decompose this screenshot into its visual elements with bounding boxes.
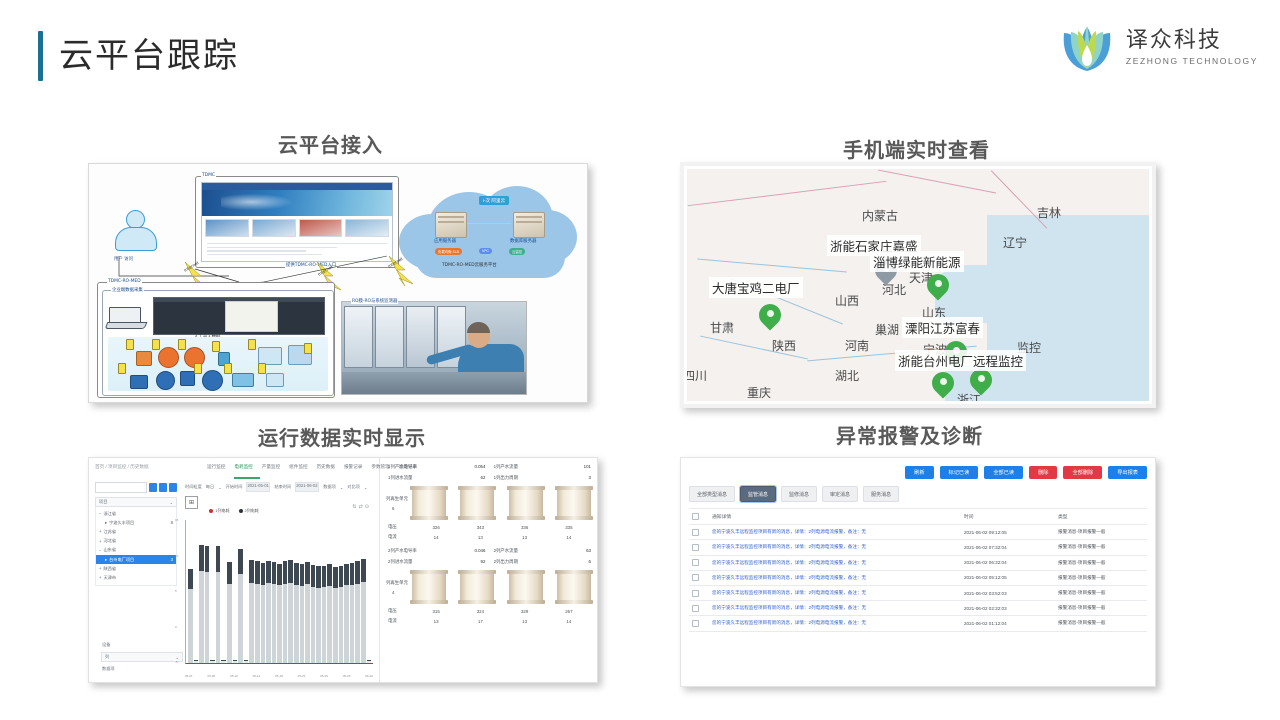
- regeneration-unit-value: 4: [392, 590, 394, 595]
- province-label: 河南: [845, 337, 869, 354]
- column-select[interactable]: 列 ⌄: [101, 652, 183, 662]
- chart-bar: [249, 560, 254, 663]
- regeneration-unit-label: 列再生单元: [386, 580, 408, 586]
- alarm-type: 报警消息-项目报警—般: [1055, 601, 1147, 616]
- search-icon[interactable]: [149, 483, 157, 492]
- row-select-cell[interactable]: [689, 555, 709, 570]
- row-select-cell[interactable]: [689, 616, 709, 631]
- alarm-table[interactable]: 通知详情 时间 类型 您的宁波久丰远程监控项目有新的消息，详情：2列电源电流报警…: [689, 508, 1147, 632]
- tab-item-active[interactable]: 电耗监控: [234, 464, 252, 470]
- project-select[interactable]: 项目 ⌄: [95, 497, 177, 507]
- map-site-label: 浙能台州电厂远程监控: [895, 350, 1026, 371]
- tree-node[interactable]: +河北省: [96, 537, 176, 546]
- province-label: 内蒙古: [862, 207, 898, 224]
- x-tick: 05-01: [185, 674, 193, 678]
- current-label: 电流: [388, 618, 414, 624]
- tree-node-label: 陕西省: [103, 566, 116, 572]
- metrics-grid: 1列产水电导率0.054 1列产水流量101 1列进水流量62 1列出力周期3 …: [388, 464, 591, 628]
- chart-bar: [316, 566, 321, 663]
- alarm-message[interactable]: 您的宁波久丰远程监控项目有新的消息，详情：2列电源电流报警，备注：无: [709, 616, 961, 631]
- row-checkbox[interactable]: [692, 620, 699, 627]
- row-select-cell[interactable]: [689, 601, 709, 616]
- row-checkbox[interactable]: [692, 590, 699, 597]
- spool-icon: [557, 570, 591, 604]
- chart-bars: [186, 520, 373, 663]
- chevron-down-icon: ⌄: [218, 485, 222, 490]
- alarm-table-image: 刷新标记已读全部已读删除全部删除导出报表 全部类型消息监管消息监修消息审定消息服…: [680, 457, 1156, 687]
- col-detail: 通知详情: [709, 509, 961, 525]
- alarm-tab[interactable]: 服务消息: [863, 486, 899, 502]
- tab-item[interactable]: 组件监控: [289, 464, 307, 470]
- x-tick: 05-14: [253, 674, 261, 678]
- alarm-type: 报警消息-项目报警—般: [1055, 585, 1147, 600]
- page-title-text: 云平台跟踪: [59, 39, 239, 73]
- alarm-action-button[interactable]: 导出报表: [1108, 466, 1147, 479]
- metric-row: 1列进水流量62 1列出力周期3: [388, 475, 591, 481]
- tree-node-label: 台州电厂项目: [109, 557, 134, 563]
- metric-row: 1列产水电导率0.054 1列产水流量101: [388, 464, 591, 470]
- spool-icon: [557, 486, 591, 520]
- metric-row: 2列产水电导率0.046 2列产水流量63: [388, 548, 591, 554]
- province-label: 吉林: [1037, 204, 1061, 221]
- row-select-cell[interactable]: [689, 540, 709, 555]
- y-tick: -5: [175, 660, 178, 664]
- alarm-action-button[interactable]: 标记已读: [940, 466, 979, 479]
- logo-name-cn: 译众科技: [1126, 28, 1258, 53]
- current-value: 13: [458, 535, 502, 540]
- membrane-spools-row-2: [388, 570, 591, 604]
- metric-value: 3: [589, 475, 591, 481]
- tree-node-label: 河北省: [103, 538, 116, 544]
- row-checkbox[interactable]: [692, 574, 699, 581]
- voltage-row: 电压 315 324 329 267: [388, 608, 591, 614]
- operating-data-dashboard-image: 首页 / 项目监控 / 历史数据 运行监控 电耗监控 产量监控 组件监控 历史数…: [88, 457, 598, 683]
- alarm-message[interactable]: 您的宁波久丰远程监控项目有新的消息，详情：2列电源电流报警，备注：无: [709, 525, 961, 540]
- voltage-value: 315: [414, 609, 458, 614]
- chart-bar: [283, 561, 288, 663]
- province-label: 陕西: [772, 337, 796, 354]
- voltage-row: 电压 326 343 336 335: [388, 524, 591, 530]
- map-pin[interactable]: [927, 274, 949, 296]
- y-tick: 10: [175, 554, 178, 558]
- tree-node[interactable]: +陕西省: [96, 564, 176, 573]
- table-row[interactable]: 您的宁波久丰远程监控项目有新的消息，详情：2列电源电流报警，备注：无2021-0…: [689, 616, 1147, 631]
- filter-icon[interactable]: [159, 483, 167, 492]
- alarm-type: 报警消息-项目报警—般: [1055, 540, 1147, 555]
- laptop-icon: [109, 307, 145, 329]
- current-value: 14: [414, 535, 458, 540]
- province-label: 湖北: [835, 367, 859, 384]
- legend-item: 2列电耗: [239, 508, 259, 514]
- alarm-type: 报警消息-项目报警—般: [1055, 616, 1147, 631]
- x-tick: 06-02: [365, 674, 373, 678]
- alarm-message[interactable]: 您的宁波久丰远程监控项目有新的消息，详情：2列电源电流报警，备注：无: [709, 601, 961, 616]
- dashboard-layout: 首页 / 项目监控 / 历史数据 运行监控 电耗监控 产量监控 组件监控 历史数…: [89, 458, 597, 682]
- current-value: 13: [503, 619, 547, 624]
- alarm-tab[interactable]: 全部类型消息: [689, 486, 735, 502]
- province-label: 四川: [687, 367, 707, 384]
- column-select-label: 列: [105, 654, 109, 660]
- metric-label: 2列产水流量: [494, 548, 518, 554]
- row-select-cell[interactable]: [689, 570, 709, 585]
- chart-bar: [233, 660, 238, 663]
- row-checkbox[interactable]: [692, 605, 699, 612]
- device-label: 设备: [101, 640, 183, 650]
- tree-node[interactable]: −山东省: [96, 546, 176, 555]
- metric-label: 2列产水电导率: [388, 548, 417, 554]
- alarm-message[interactable]: 您的宁波久丰远程监控项目有新的消息，详情：2列电源电流报警，备注：无: [709, 555, 961, 570]
- metric-label: 2列出力周期: [494, 559, 518, 565]
- chart-bar: [194, 660, 199, 663]
- alarm-time: 2021-06-02 01:12:04: [961, 616, 1055, 631]
- chart-x-axis: 05-01 05-06 05-10 05-14 05-18 05-22 05-2…: [185, 674, 373, 678]
- map-site-label: 溧阳江苏富春: [902, 317, 983, 338]
- active-tab-underline: [234, 477, 260, 479]
- metric-value: 0.046: [474, 548, 485, 554]
- chart-filter-bar[interactable]: 时间粒度 每日 ⌄ 开始时间 2021-05-01 结束时间 2021-06-0…: [185, 482, 374, 492]
- col-type: 类型: [1055, 509, 1147, 525]
- process-flow-diagram: [108, 337, 328, 391]
- membrane-spools-row-1: [388, 486, 591, 520]
- current-value: 13: [503, 535, 547, 540]
- alarm-time: 2021-06-02 03:52:03: [961, 585, 1055, 600]
- metric-value: 63: [586, 548, 591, 554]
- chart-bar: [266, 561, 271, 663]
- alarm-tab[interactable]: 审定消息: [822, 486, 858, 502]
- chart-bar: [350, 563, 355, 663]
- logo-text-block: 译众科技 ZEZHONG TECHNOLOGY: [1126, 28, 1258, 65]
- lotus-logo-icon: [1058, 19, 1116, 75]
- project-search[interactable]: [95, 482, 177, 493]
- voltage-value: 326: [414, 525, 458, 530]
- chevron-down-icon: ⌄: [340, 485, 344, 490]
- row-checkbox[interactable]: [692, 529, 699, 536]
- chart-bar: [300, 564, 305, 663]
- chart-bar: [305, 562, 310, 663]
- table-row[interactable]: 您的宁波久丰远程监控项目有新的消息，详情：2列电源电流报警，备注：无2021-0…: [689, 555, 1147, 570]
- chevron-down-icon: ⌄: [364, 485, 368, 490]
- table-row[interactable]: 您的宁波久丰远程监控项目有新的消息，详情：2列电源电流报警，备注：无2021-0…: [689, 540, 1147, 555]
- device-metrics-panel: 1列产水电导率0.054 1列产水流量101 1列进水流量62 1列出力周期3 …: [380, 458, 597, 682]
- row-checkbox[interactable]: [692, 544, 699, 551]
- alarm-time: 2021-06-02 09:12:05: [961, 525, 1055, 540]
- start-date-input[interactable]: 2021-05-01: [246, 482, 270, 492]
- map-pin[interactable]: [759, 304, 781, 326]
- voltage-value: 343: [458, 525, 502, 530]
- alarm-tab-active[interactable]: 监管消息: [740, 486, 776, 502]
- spool-icon: [460, 486, 494, 520]
- regeneration-unit-value: 6: [392, 506, 394, 511]
- voltage-value: 335: [547, 525, 591, 530]
- y-tick: 0: [175, 625, 178, 629]
- metric-value: 0.054: [474, 464, 485, 470]
- alarm-action-button[interactable]: 全部删除: [1063, 466, 1102, 479]
- alarm-time: 2021-06-02 02:32:03: [961, 601, 1055, 616]
- chart-bar: [361, 559, 366, 663]
- map-site-label: 大唐宝鸡二电厂: [709, 277, 803, 298]
- alarm-action-button[interactable]: 全部已读: [984, 466, 1023, 479]
- current-value: 14: [547, 619, 591, 624]
- end-date-input[interactable]: 2021-06-02: [295, 482, 319, 492]
- voltage-value: 336: [503, 525, 547, 530]
- monitor-label: RO膜-RO与系统监测器: [351, 298, 398, 304]
- chart-bar: [367, 660, 372, 663]
- map-pin[interactable]: [970, 369, 992, 391]
- chart-y-axis: 15 10 5 0 -5: [175, 518, 178, 664]
- tree-node-count: 3: [171, 557, 173, 562]
- spool-icon: [509, 486, 543, 520]
- tab-item[interactable]: 历史数据: [317, 464, 335, 470]
- map-pin[interactable]: [932, 372, 954, 394]
- scada-screenshot: [153, 297, 325, 335]
- chart-bar: [261, 563, 266, 663]
- tree-node-label: 江苏省: [103, 529, 116, 535]
- metric-label: 1列进水流量: [388, 475, 412, 481]
- alarm-type: 报警消息-项目报警—般: [1055, 555, 1147, 570]
- alarm-type: 报警消息-项目报警—般: [1055, 570, 1147, 585]
- table-row[interactable]: 您的宁波久丰远程监控项目有新的消息，详情：2列电源电流报警，备注：无2021-0…: [689, 585, 1147, 600]
- filter-label: 时间粒度: [185, 484, 202, 490]
- caption-alarm-diagnosis: 异常报警及诊断: [836, 420, 983, 449]
- project-tree[interactable]: −浙江省 ▸宁波久丰项目8 +江苏省 +河北省 −山东省 ▸台州电厂项目3 +陕…: [95, 507, 177, 586]
- slide-root: 云平台跟踪 译众科技 ZEZHONG TECHNOLOGY 云平台接入 手机端实…: [0, 0, 1280, 720]
- voltage-label: 电压: [388, 608, 414, 614]
- chart-legend: 1列电耗 2列电耗: [89, 508, 379, 514]
- chart-bar: [344, 564, 349, 663]
- cloud-architecture-image: 用户 访问 TDMC 提供TDMC-RO-MED入口 i-次 阿里云 应用服务器…: [88, 163, 588, 403]
- chart-bar: [288, 560, 293, 663]
- dataitem-label: 数据项: [101, 664, 183, 674]
- legend-label: 1列电耗: [215, 508, 229, 514]
- x-tick: 05-26: [320, 674, 328, 678]
- chevron-down-icon: ⌄: [169, 500, 173, 505]
- tree-node-selected[interactable]: ▸台州电厂项目3: [96, 555, 176, 564]
- current-row: 电流 14 13 13 14: [388, 534, 591, 540]
- current-value: 14: [547, 535, 591, 540]
- current-label: 电流: [388, 534, 414, 540]
- dashboard-main: 首页 / 项目监控 / 历史数据 运行监控 电耗监控 产量监控 组件监控 历史数…: [89, 458, 380, 682]
- caption-mobile-view: 手机端实时查看: [843, 134, 990, 163]
- chart-bar: [188, 569, 193, 663]
- select-all-cell[interactable]: [689, 509, 709, 525]
- title-accent-bar: [38, 31, 43, 81]
- alarm-panel: 刷新标记已读全部已读删除全部删除导出报表 全部类型消息监管消息监修消息审定消息服…: [689, 466, 1147, 678]
- alarm-type-tabs[interactable]: 全部类型消息监管消息监修消息审定消息服务消息: [689, 486, 1147, 502]
- filter-label: 结束时间: [274, 484, 291, 490]
- alarm-type: 报警消息-项目报警—般: [1055, 525, 1147, 540]
- search-input[interactable]: [95, 482, 147, 493]
- row-select-cell[interactable]: [689, 525, 709, 540]
- chart-bar: [216, 546, 221, 663]
- alarm-action-button[interactable]: 刷新: [905, 466, 933, 479]
- filter-label: 开始时间: [226, 484, 243, 490]
- chart-bar: [333, 567, 338, 663]
- tree-node-label: 宁波久丰项目: [109, 520, 134, 526]
- metric-label: 1列出力周期: [494, 475, 518, 481]
- alarm-message[interactable]: 您的宁波久丰远程监控项目有新的消息，详情：2列电源电流报警，备注：无: [709, 570, 961, 585]
- table-row[interactable]: 您的宁波久丰远程监控项目有新的消息，详情：2列电源电流报警，备注：无2021-0…: [689, 601, 1147, 616]
- chart-bar: [311, 565, 316, 663]
- chart-bar: [322, 566, 327, 663]
- sidebar-footer: 设备 列 ⌄ 数据项: [101, 640, 183, 674]
- spool-icon: [460, 570, 494, 604]
- spool-icon: [412, 486, 446, 520]
- province-label: 巢湖: [875, 321, 899, 338]
- chart-bar: [327, 564, 332, 663]
- tree-node-label: 天津市: [103, 575, 116, 581]
- page-title: 云平台跟踪: [38, 27, 239, 85]
- control-room-photo: [341, 301, 527, 395]
- province-label: 辽宁: [1003, 234, 1027, 251]
- chart-bar: [277, 564, 282, 663]
- tab-item[interactable]: 运行监控: [207, 464, 225, 470]
- chart-bar: [199, 545, 204, 663]
- x-tick: 05-10: [230, 674, 238, 678]
- tree-node[interactable]: +天津市: [96, 573, 176, 582]
- alarm-tab[interactable]: 监修消息: [781, 486, 817, 502]
- x-tick: 05-22: [298, 674, 306, 678]
- alarm-message[interactable]: 您的宁波久丰远程监控项目有新的消息，详情：2列电源电流报警，备注：无: [709, 585, 961, 600]
- voltage-value: 324: [458, 609, 502, 614]
- metric-row: 2列进水流量92 2列出力周期6: [388, 559, 591, 565]
- alarm-time: 2021-06-02 07:32:04: [961, 540, 1055, 555]
- spool-icon: [412, 570, 446, 604]
- chart-bar: [355, 561, 360, 663]
- map-site-label: 淄博绿能新能源: [870, 251, 964, 272]
- province-label: 甘肃: [710, 319, 734, 336]
- logo-name-en: ZEZHONG TECHNOLOGY: [1126, 56, 1258, 66]
- table-row[interactable]: 您的宁波久丰远程监控项目有新的消息，详情：2列电源电流报警，备注：无2021-0…: [689, 525, 1147, 540]
- metric-value: 6: [589, 559, 591, 565]
- brand-logo: 译众科技 ZEZHONG TECHNOLOGY: [1058, 18, 1258, 76]
- caption-cloud-access: 云平台接入: [278, 129, 383, 158]
- metric-label: 1列产水电导率: [388, 464, 417, 470]
- tree-node[interactable]: +江苏省: [96, 527, 176, 536]
- province-label: 山西: [835, 292, 859, 309]
- chart-bar: [210, 660, 215, 663]
- tab-item[interactable]: 产量监控: [262, 464, 280, 470]
- tree-node[interactable]: ▸宁波久丰项目8: [96, 518, 176, 527]
- metric-label: 2列进水流量: [388, 559, 412, 565]
- alarm-time: 2021-06-02 05:12:05: [961, 570, 1055, 585]
- mobile-map-image: 内蒙古 吉林 辽宁 河北 山西 天津 山东 甘肃 陕西 河南 湖北 重庆 四川 …: [680, 162, 1156, 408]
- chart-bar: [294, 563, 299, 663]
- metric-value: 62: [481, 475, 486, 481]
- alarm-action-buttons[interactable]: 刷新标记已读全部已读删除全部删除导出报表: [689, 466, 1147, 479]
- chart-bar: [272, 562, 277, 663]
- current-row: 电流 13 17 13 14: [388, 618, 591, 624]
- tree-node-label: 山东省: [103, 547, 116, 553]
- caption-realtime-data: 运行数据实时显示: [258, 422, 426, 451]
- row-select-cell[interactable]: [689, 585, 709, 600]
- voltage-label: 电压: [388, 524, 414, 530]
- chart-bar: [238, 549, 243, 663]
- chart-bar: [227, 562, 232, 663]
- site-sub-label: 企业端数据采集: [111, 287, 144, 293]
- table-row[interactable]: 您的宁波久丰远程监控项目有新的消息，详情：2列电源电流报警，备注：无2021-0…: [689, 570, 1147, 585]
- filter-value[interactable]: 每日: [206, 484, 214, 490]
- filter-label: 数据项: [323, 484, 336, 490]
- current-value: 17: [458, 619, 502, 624]
- current-value: 13: [414, 619, 458, 624]
- chart-bar: [339, 566, 344, 663]
- metric-label: 1列产水流量: [494, 464, 518, 470]
- voltage-value: 329: [503, 609, 547, 614]
- map-canvas[interactable]: 内蒙古 吉林 辽宁 河北 山西 天津 山东 甘肃 陕西 河南 湖北 重庆 四川 …: [687, 169, 1149, 401]
- chart-bar: [221, 660, 226, 663]
- alarm-time: 2021-06-02 06:32:04: [961, 555, 1055, 570]
- electricity-consumption-chart[interactable]: [185, 520, 373, 664]
- table-header-row: 通知详情 时间 类型: [689, 509, 1147, 525]
- alarm-action-button[interactable]: 删除: [1029, 466, 1057, 479]
- chart-bar: [205, 546, 210, 663]
- province-label: 重庆: [747, 384, 771, 401]
- legend-item: 1列电耗: [209, 508, 229, 514]
- x-tick: 05-18: [275, 674, 283, 678]
- col-time: 时间: [961, 509, 1055, 525]
- y-tick: 15: [175, 518, 178, 522]
- reset-icon[interactable]: [169, 483, 177, 492]
- site-label: TDMC-RO-MED: [107, 279, 142, 284]
- select-all-checkbox[interactable]: [692, 513, 699, 520]
- voltage-value: 267: [547, 609, 591, 614]
- tab-item[interactable]: 报警记录: [344, 464, 362, 470]
- legend-label: 2列电耗: [245, 508, 259, 514]
- row-checkbox[interactable]: [692, 559, 699, 566]
- site-inner-frame: 企业端数据采集 人工录入数据: [102, 290, 334, 396]
- x-tick: 05-06: [208, 674, 216, 678]
- y-tick: 5: [175, 589, 178, 593]
- alarm-message[interactable]: 您的宁波久丰远程监控项目有新的消息，详情：2列电源电流报警，备注：无: [709, 540, 961, 555]
- metric-value: 101: [584, 464, 591, 470]
- spool-icon: [509, 570, 543, 604]
- metric-value: 92: [481, 559, 486, 565]
- regeneration-unit-label: 列再生单元: [386, 496, 408, 502]
- tree-node-count: 8: [171, 520, 173, 525]
- project-select-label: 项目: [99, 499, 107, 505]
- breadcrumb: 首页 / 项目监控 / 历史数据: [95, 464, 149, 470]
- chart-bar: [255, 561, 260, 663]
- filter-label: 对比项: [347, 484, 360, 490]
- chart-bar: [244, 660, 249, 663]
- x-tick: 05-30: [343, 674, 351, 678]
